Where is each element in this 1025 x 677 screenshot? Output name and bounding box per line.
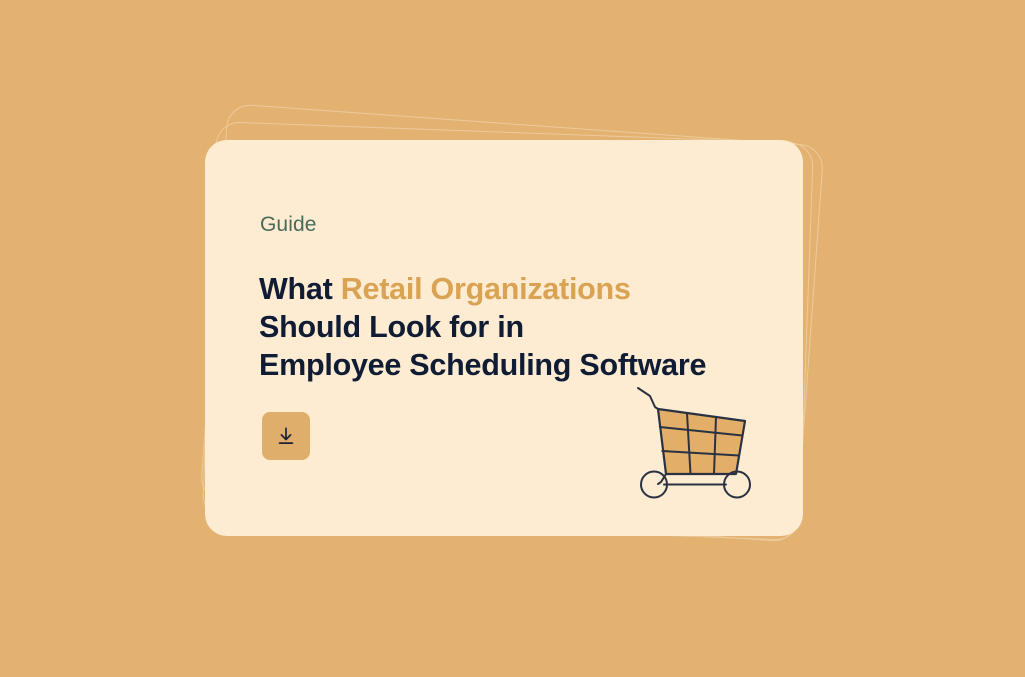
- cart-wheel-right: [724, 472, 750, 498]
- page-title-line-3: Employee Scheduling Software: [259, 346, 769, 384]
- page-title-line-2: Should Look for in: [259, 308, 769, 346]
- page-title-line-1-prefix: What: [259, 272, 341, 306]
- cart-handle: [638, 388, 658, 409]
- page-title-line-1: What Retail Organizations: [259, 270, 769, 308]
- eyebrow-label: Guide: [260, 214, 317, 235]
- shopping-cart-graphic: [633, 385, 773, 500]
- cart-basket: [658, 409, 745, 474]
- download-button[interactable]: Download: [262, 412, 310, 460]
- page-canvas: Guide What Retail Organizations Should L…: [0, 0, 1025, 677]
- page-title: What Retail Organizations Should Look fo…: [259, 270, 769, 384]
- page-title-accent: Retail Organizations: [341, 272, 631, 306]
- download-arrow-icon: [275, 425, 297, 447]
- guide-card: Guide What Retail Organizations Should L…: [205, 140, 803, 536]
- shopping-cart-illustration: [633, 385, 773, 500]
